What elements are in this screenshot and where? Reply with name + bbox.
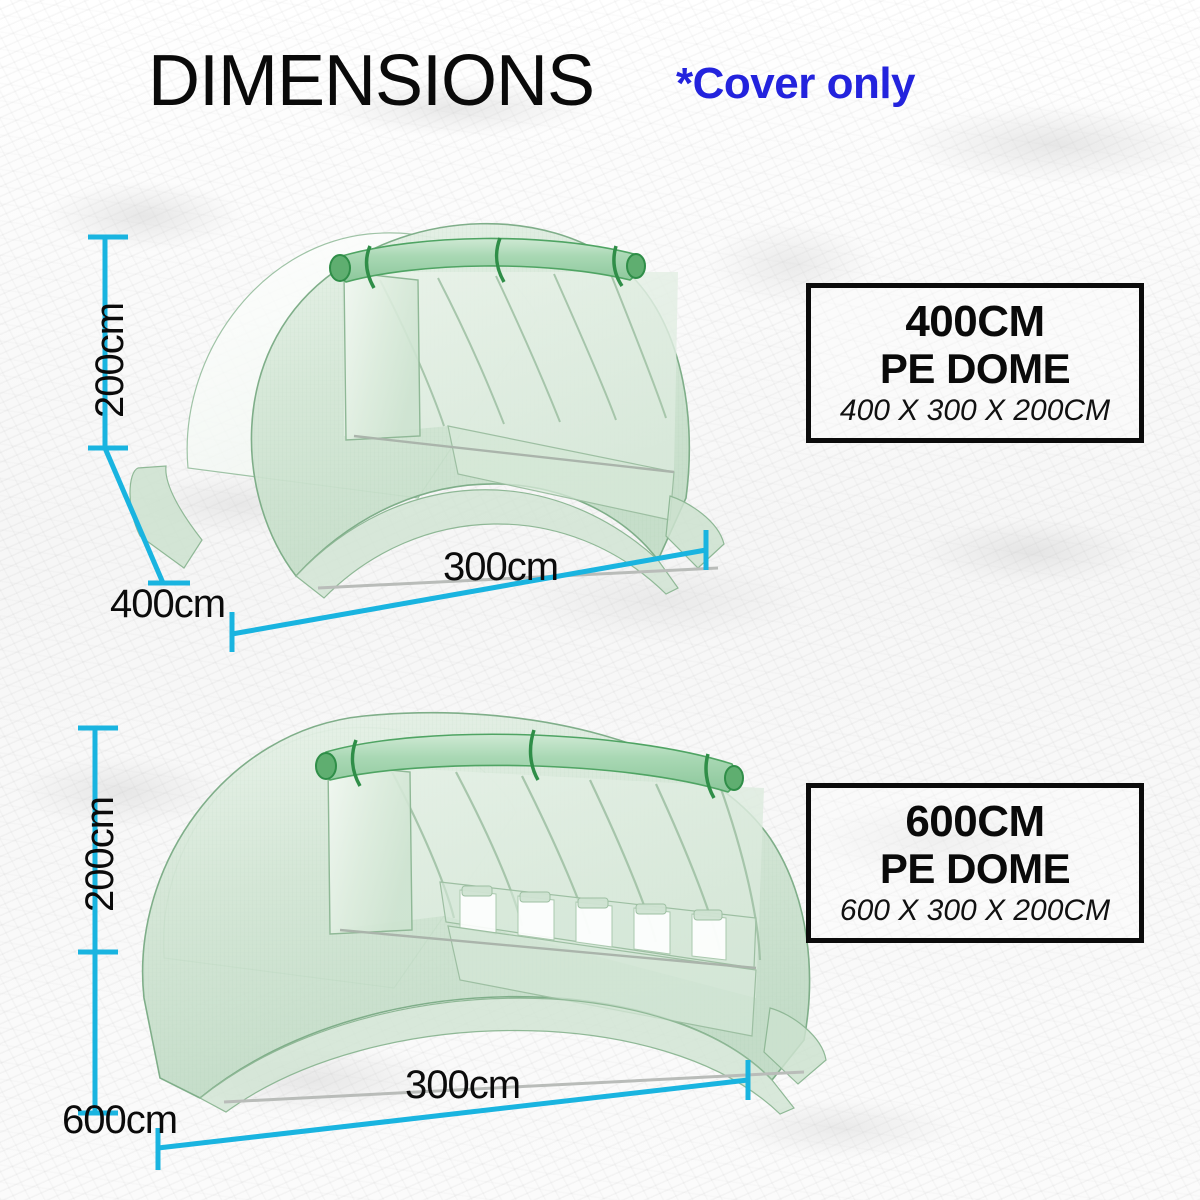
product-info-box-600: 600CM PE DOME 600 X 300 X 200CM xyxy=(806,783,1144,943)
height-label-400: 200cm xyxy=(88,303,132,418)
front-door-panel xyxy=(328,764,412,934)
header: DIMENSIONS *Cover only xyxy=(0,44,1200,122)
depth-label-600: 600cm xyxy=(62,1098,177,1142)
product-dims-400: 400 X 300 X 200CM xyxy=(840,393,1110,429)
width-label-400: 300cm xyxy=(443,545,558,589)
height-label-600: 200cm xyxy=(78,797,122,912)
roll-end-cap-right xyxy=(627,254,645,278)
product-info-box-400: 400CM PE DOME 400 X 300 X 200CM xyxy=(806,283,1144,443)
product-size-400: 400CM xyxy=(905,298,1044,346)
product-type-600: PE DOME xyxy=(880,846,1070,892)
product-size-600: 600CM xyxy=(905,798,1044,846)
depth-label-400: 400cm xyxy=(110,582,225,626)
product-type-400: PE DOME xyxy=(880,346,1070,392)
left-anchor-tab xyxy=(130,466,202,568)
roll-end-cap-right xyxy=(725,766,743,790)
width-label-600: 300cm xyxy=(405,1063,520,1107)
right-anchor-tab xyxy=(666,496,724,568)
roll-end-cap-left xyxy=(330,255,350,281)
greenhouse-illustration-600 xyxy=(104,668,844,1118)
greenhouse-illustration-400 xyxy=(118,168,758,608)
product-dims-600: 600 X 300 X 200CM xyxy=(840,893,1110,929)
roll-end-cap-left xyxy=(316,753,336,779)
cover-only-note: *Cover only xyxy=(676,58,915,110)
page-title: DIMENSIONS xyxy=(148,42,594,120)
dimensions-infographic: DIMENSIONS *Cover only xyxy=(0,0,1200,1200)
front-door-panel xyxy=(344,272,420,440)
